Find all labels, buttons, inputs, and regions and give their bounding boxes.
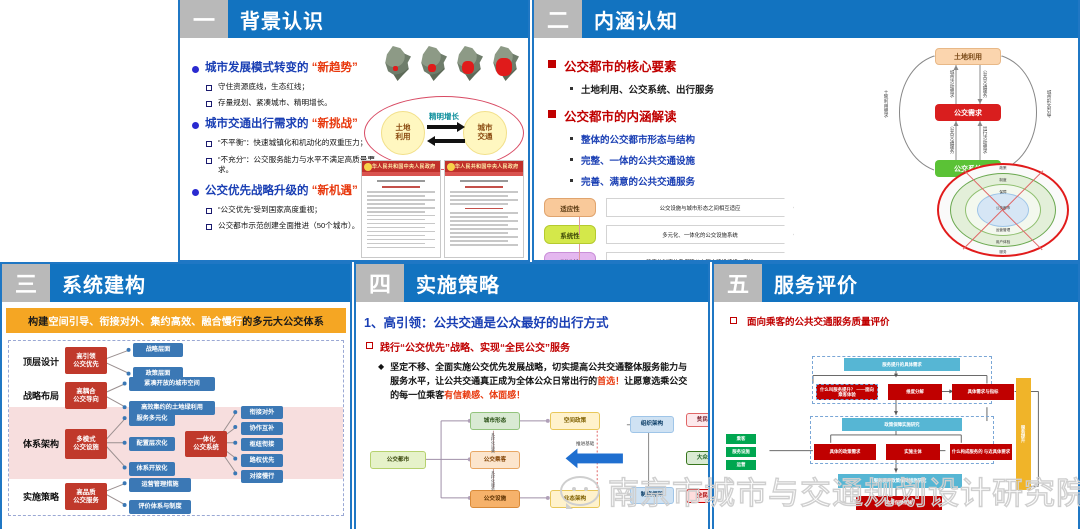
dot-bullet-icon <box>570 137 573 140</box>
p5-row2-2: 什么构成服务的 与近具体要求 <box>950 444 1012 460</box>
bullet-dot-icon <box>192 122 199 129</box>
panel3-title: 系统建构 <box>50 264 350 302</box>
square-bullet-icon <box>730 317 737 324</box>
triangle-node-transit-demand: 公交需求 <box>935 104 1001 121</box>
p5-top-header: 服务提升的具体需求 <box>844 358 960 371</box>
panel1-bullet-1: 城市交通出行需求的 “新挑战” <box>190 117 386 132</box>
panel2-group-1-item-2: 完善、满意的公共交通服务 <box>570 174 844 188</box>
panel2-attribute-flow: 适应性 公交设施与城市形态之间相互适应 系统性 多元化、一体化的公交设施系统 渐… <box>544 198 794 262</box>
square-bullet-icon <box>206 158 212 164</box>
p3-red-node-2b: 一体化公交系统 <box>185 431 227 457</box>
dot-bullet-icon <box>570 87 573 90</box>
panel2-body: 公交都市的核心要素 土地利用、公交系统、出行服务 公交都市的内涵解读 整体的公交… <box>534 38 1078 262</box>
flow-arrow-0-icon: 公交设施与城市形态之间相互适应 <box>606 198 794 217</box>
triangle-edge-4: 土地利用需求 <box>883 90 889 118</box>
city-growth-map-2 <box>452 44 486 84</box>
triangle-edge-3: 出行活动需求 <box>982 126 988 154</box>
triangle-edge-5: 城市形态引导 <box>1046 90 1052 118</box>
panel3-header: 三 系统建构 <box>2 264 350 302</box>
panel1-sub-0-0: 守住资源底线，生态红线； <box>206 82 386 92</box>
p4-body-a: 坚定不移、全面实施公交优先发展战略，切实提高公共交通整体服务能力与 <box>390 362 687 372</box>
policy-doc-thumbnail-1[interactable]: 中华人民共和国中央人民政府 <box>444 160 524 258</box>
panel1-map-thumbnails <box>380 44 522 84</box>
panel2-text-column: 公交都市的核心要素 土地利用、公交系统、出行服务 公交都市的内涵解读 整体的公交… <box>544 56 844 188</box>
panel4-body: 1、高引领：公共交通是公众最好的出行方式 践行“公交优先”战略、实现“全民公交”… <box>356 302 708 517</box>
flow-arrow-1-icon: 多元化、一体化的公交设施系统 <box>606 225 794 244</box>
panel1-bullet-0: 城市发展模式转变的 “新趋势” <box>190 61 386 76</box>
panel1-sub-2-1: 公交都市示范创建全面推进（50个城市）。 <box>206 221 386 231</box>
panel4-body-text: ◆ 坚定不移、全面实施公交优先发展战略，切实提高公共交通整体服务能力与 服务水平… <box>378 361 700 403</box>
panel4-heading: 1、高引领：公共交通是公众最好的出行方式 <box>364 312 700 331</box>
p5-left-box-1: 服务设施 <box>726 447 756 457</box>
p3-blue-node-1-0: 紧凑开放的城市空间 <box>129 377 215 391</box>
panel1-sub-0-1: 存量规划、紧凑城市、精明增长。 <box>206 98 386 108</box>
panel-system-construction: 三 系统建构 构建空间引导、衔接对外、集约高效、融合慢行的多元大公交体系 <box>0 262 352 529</box>
p1-b0-lead: 城市发展模式转变的 <box>205 62 312 74</box>
panel2-group-1-item-1: 完整、一体的公共交通设施 <box>570 153 844 167</box>
p4-conn-label-0: 多样化运营 <box>490 433 496 453</box>
p3-red-node-2: 多模式公交设施 <box>65 429 107 459</box>
panel3-architecture-chart: 顶层设计 高引领公交优先 战略层面 政策层面 战略布局 高耦合公交导向 紧凑开放… <box>8 340 344 516</box>
p5-left-box-0: 乘客 <box>726 434 756 444</box>
p1-b0-hi: “新趋势” <box>312 62 358 74</box>
slide-collage: 一 背景认识 城市发展模式转变的 “新趋势” 守住资源底线，生态红线； 存量规划… <box>0 0 1080 529</box>
triangle-edge-2: 公共交通服务 <box>949 126 955 154</box>
panel-background-recognition: 一 背景认识 城市发展模式转变的 “新趋势” 守住资源底线，生态红线； 存量规划… <box>178 0 530 262</box>
circle-label-1: 制度 <box>999 178 1006 183</box>
p4-body-c2: 有信赖感、体面感！ <box>444 390 525 400</box>
panel4-header: 四 实施策略 <box>356 264 708 302</box>
panel2-header: 二 内涵认知 <box>534 0 1078 38</box>
p5-side-bar: 服务提升 <box>1016 378 1031 490</box>
panel2-group-1-item-0: 整体的公交都市形态与结构 <box>570 132 844 146</box>
panel4-diagram: 公交都市 城市形态 公交乘客 公交设施 空间政策 业态架构 多样化运营 多样化服… <box>364 407 700 513</box>
panel1-sub-1-0: “不平衡”：快速城镇化和机动化的双重压力； <box>206 138 386 148</box>
p5-row1-2: 具体需求与指标 <box>952 384 1014 400</box>
flow-arrow-2-icon: 稳定的制度体系保障公交都市建设持续、渐进 <box>606 252 794 262</box>
p3-row-label-3: 实施策略 <box>23 490 59 503</box>
p4-level-tag-2: 全民公交 <box>686 489 710 503</box>
p4-body-b1: 服务水平，让公共交通真正成为全体公众日常出行的 <box>390 376 597 386</box>
p4-node-right-2: 业态架构 <box>550 490 600 508</box>
p1-b2-hi: “新机遇” <box>312 185 358 197</box>
p1-b2-lead: 公交优先战略升级的 <box>205 185 312 197</box>
flow-tag-adaptability: 适应性 <box>544 198 596 217</box>
p1-b1-hi: “新挑战” <box>312 118 358 130</box>
flow-row-1: 系统性 多元化、一体化的公交设施系统 <box>544 225 794 244</box>
panel1-title: 背景认识 <box>228 0 528 38</box>
diamond-bullet-icon: ◆ <box>378 362 384 371</box>
p4-level-tag-0: 贫民公交 <box>686 413 710 427</box>
p4-conn-label-1: 多样化服务 <box>490 471 496 491</box>
panel4-number: 四 <box>356 264 404 302</box>
concentric-circle-diagram: 政策 制度 保障 公交都市 运营管理 用户体验 服务 <box>936 162 1070 258</box>
p4-node-mid-0: 城市形态 <box>470 412 520 430</box>
panel3-body: 构建空间引导、衔接对外、集约高效、融合慢行的多元大公交体系 <box>2 308 350 516</box>
square-bullet-icon <box>206 208 212 214</box>
p3-blue-node-2-2: 体系开放化 <box>129 462 175 476</box>
panel-connotation-cognition: 二 内涵认知 公交都市的核心要素 土地利用、公交系统、出行服务 公交都市的内涵解… <box>532 0 1080 262</box>
p1-b1-lead: 城市交通出行需求的 <box>205 118 312 130</box>
circle-label-5: 用户体验 <box>996 240 1010 245</box>
p4-arrow-label: 推进基础 <box>576 441 594 447</box>
p4-node-mid-2: 公交设施 <box>470 490 520 508</box>
p3-blue-node-3-1: 评价体系与制度 <box>129 500 191 514</box>
flow-tag-systematicity: 系统性 <box>544 225 596 244</box>
city-growth-map-0 <box>380 44 414 84</box>
panel2-group-0-item-0: 土地利用、公交系统、出行服务 <box>570 82 844 96</box>
bullet-dot-icon <box>192 66 199 73</box>
panel1-policy-documents: 中华人民共和国中央人民政府 中华人民共和国中央人民政府 <box>361 160 524 258</box>
square-bullet-icon <box>206 101 212 107</box>
p4-body-b3: 让愿意选乘公交 <box>624 376 687 386</box>
panel3-number: 三 <box>2 264 50 302</box>
panel4-subheading: 践行“公交优先”战略、实现“全民公交”服务 <box>364 339 700 354</box>
p4-body-b2: 首选！ <box>597 376 624 386</box>
p4-node-right-0: 空间政策 <box>550 412 600 430</box>
national-emblem-icon <box>364 163 372 171</box>
square-bullet-icon <box>548 110 556 118</box>
p3-red-node-0: 高引领公交优先 <box>65 347 107 374</box>
circle-label-7: 公交都市 <box>996 206 1010 211</box>
panel1-body: 城市发展模式转变的 “新趋势” 守住资源底线，生态红线； 存量规划、紧凑城市、精… <box>180 38 528 262</box>
p3-blue-node-2b-1: 协作互补 <box>241 422 283 435</box>
p5-row1-1: 维度分解 <box>888 384 942 400</box>
p5-left-box-2: 运营 <box>726 460 756 470</box>
city-growth-map-1 <box>416 44 450 84</box>
panel1-header: 一 背景认识 <box>180 0 528 38</box>
p3-blue-node-2-1: 配置层次化 <box>129 437 175 451</box>
panel2-title: 内涵认知 <box>582 0 1078 38</box>
panel1-bullet-2: 公交优先战略升级的 “新机遇” <box>190 184 386 199</box>
panel1-number: 一 <box>180 0 228 38</box>
highlight-band <box>9 407 343 479</box>
p3-row-label-0: 顶层设计 <box>23 355 59 368</box>
p4-node-mid-1: 公交乘客 <box>470 451 520 469</box>
bullet-dot-icon <box>192 189 199 196</box>
circle-label-0: 政策 <box>999 166 1006 171</box>
p3-blue-node-0-0: 战略层面 <box>133 343 183 357</box>
p3-blue-node-3-0: 运营管理措施 <box>129 478 191 492</box>
panel2-group-0-heading: 公交都市的核心要素 <box>544 56 844 75</box>
panel5-diagram: 服务提升的具体需求 什么叫服务提升？ ——面向乘客体验 维度分解 具体需求与指标… <box>722 338 1070 508</box>
panel5-subheading: 面向乘客的公共交通服务质量评价 <box>728 314 1070 328</box>
panel5-number: 五 <box>714 264 762 302</box>
p3-blue-node-2b-3: 路权优先 <box>241 454 283 467</box>
p5-bottom-header: 服务提升政策保障措施研究 <box>838 474 962 488</box>
panel1-bullet-list: 城市发展模式转变的 “新趋势” 守住资源底线，生态红线； 存量规划、紧凑城市、精… <box>190 46 386 232</box>
land-transport-ellipse-diagram: 土地利用 城市交通 精明增长 <box>364 96 524 170</box>
panel-service-evaluation: 五 服务评价 面向乘客的公共交通服务质量评价 <box>712 262 1080 529</box>
square-bullet-icon <box>206 141 212 147</box>
flow-tag-progressiveness: 渐进性 <box>544 252 596 262</box>
panel2-group-1-heading: 公交都市的内涵解读 <box>544 106 844 125</box>
p3-blue-node-2b-0: 衔接对外 <box>241 406 283 419</box>
p4-node-col-top: 组织架构 <box>630 416 674 433</box>
p3-blue-node-2-0: 服务多元化 <box>129 412 175 426</box>
policy-doc-thumbnail-0[interactable]: 中华人民共和国中央人民政府 <box>361 160 441 258</box>
triangle-edge-1: 公共交通服务 <box>982 70 988 98</box>
panel5-body: 面向乘客的公共交通服务质量评价 <box>714 302 1078 510</box>
panel-implementation-strategy: 四 实施策略 1、高引领：公共交通是公众最好的出行方式 践行“公交优先”战略、实… <box>354 262 710 529</box>
panel2-number: 二 <box>534 0 582 38</box>
circle-label-6: 运营管理 <box>996 228 1010 233</box>
p3-row-label-1: 战略布局 <box>23 389 59 402</box>
city-growth-map-3 <box>488 44 522 84</box>
panel1-sub-2-0: “公交优先”受到国家高度重视； <box>206 205 386 215</box>
circle-label-2: 保障 <box>999 190 1006 195</box>
p5-row1-0: 什么叫服务提升？ ——面向乘客体验 <box>816 384 878 400</box>
p4-node-col-bottom: 制度框架 <box>630 487 674 504</box>
square-bullet-icon <box>206 224 212 230</box>
p3-blue-node-2b-4: 对接慢行 <box>241 470 283 483</box>
national-emblem-icon <box>447 163 455 171</box>
square-bullet-icon <box>206 85 212 91</box>
dot-bullet-icon <box>570 158 573 161</box>
p4-level-tag-1: 大众公交 <box>686 451 710 465</box>
square-bullet-icon <box>366 342 373 349</box>
p4-node-root: 公交都市 <box>370 451 426 469</box>
p5-mid-header: 政策保障实施研究 <box>842 418 962 431</box>
flow-row-2: 渐进性 稳定的制度体系保障公交都市建设持续、渐进 <box>544 252 794 262</box>
panel5-title: 服务评价 <box>762 264 1078 302</box>
panel1-sub-1-1: “不充分”：公交服务能力与水平不满足高质量要求。 <box>206 155 386 176</box>
ellipse-label-smart-growth: 精明增长 <box>365 111 523 122</box>
triangle-node-land-use: 土地利用 <box>935 48 1001 65</box>
square-bullet-icon <box>548 60 556 68</box>
panel5-header: 五 服务评价 <box>714 264 1078 302</box>
triangle-edge-0: 城市活动需求 <box>949 70 955 98</box>
panel3-banner: 构建空间引导、衔接对外、集约高效、融合慢行的多元大公交体系 <box>6 308 346 333</box>
circle-label-4: 服务 <box>999 250 1006 255</box>
p5-row2-0: 具体的政策需求 <box>814 444 876 460</box>
p3-red-node-1: 高耦合公交导向 <box>65 382 107 409</box>
p5-bottom-box: 政策保障措施 <box>856 496 942 510</box>
p4-body-c1: 的每一位乘客 <box>390 390 444 400</box>
p3-red-node-3: 高品质公交服务 <box>65 483 107 510</box>
p3-blue-node-2b-2: 枢纽衔接 <box>241 438 283 451</box>
flow-row-0: 适应性 公交设施与城市形态之间相互适应 <box>544 198 794 217</box>
p5-row2-1: 实施主体 <box>886 444 940 460</box>
p3-row-label-2: 体系架构 <box>23 437 59 450</box>
panel4-title: 实施策略 <box>404 264 708 302</box>
dot-bullet-icon <box>570 179 573 182</box>
